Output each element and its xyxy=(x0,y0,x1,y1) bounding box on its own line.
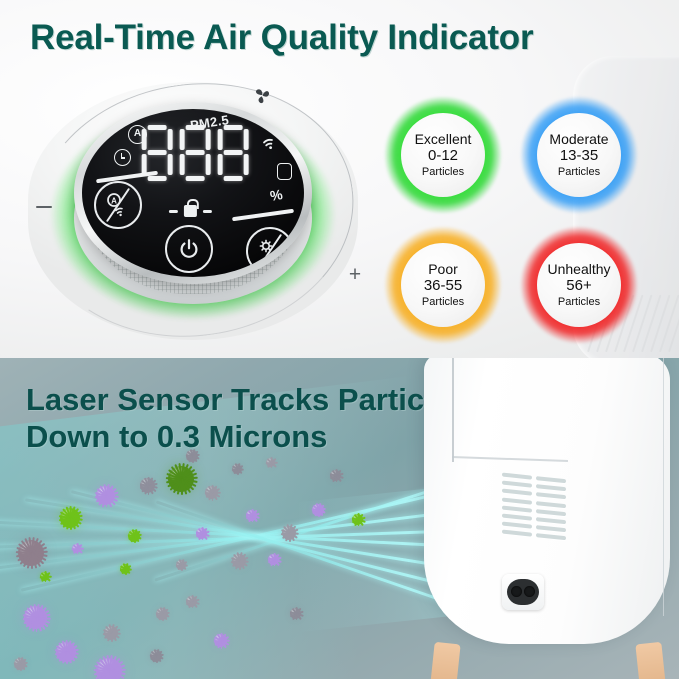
microbe-particle xyxy=(266,458,275,467)
vent-slat xyxy=(536,525,566,532)
air-quality-legend: Excellent 0-12 Particles Moderate 13-35 … xyxy=(384,96,660,346)
air-purifier-control-unit: + PM2.5 % A xyxy=(18,78,368,350)
segment xyxy=(148,125,167,130)
microbe-particle xyxy=(268,554,279,565)
badge-label: Poor xyxy=(428,262,458,278)
segment xyxy=(218,154,223,175)
socket-inlet xyxy=(507,579,539,605)
segment xyxy=(244,154,249,175)
segment xyxy=(218,129,223,150)
segment xyxy=(148,150,167,155)
vent-slat xyxy=(502,497,532,504)
badge-range: 56+ xyxy=(566,278,591,295)
microbe-particle xyxy=(104,626,118,640)
badge-range: 0-12 xyxy=(428,148,458,165)
vent-slat xyxy=(502,473,532,480)
microbe-particle xyxy=(156,608,168,620)
microbe-particle xyxy=(186,596,197,607)
microbe-spikes xyxy=(227,459,247,479)
microbe-particle xyxy=(352,514,363,525)
badge-label: Excellent xyxy=(415,132,472,148)
seven-segment-digit xyxy=(218,125,249,181)
badge-label: Unhealthy xyxy=(547,262,610,278)
microbe-spikes xyxy=(347,509,368,530)
badge-disc-poor: Poor 36-55 Particles xyxy=(401,243,485,327)
microbe-particle xyxy=(128,530,140,542)
laser-beam xyxy=(156,500,440,600)
seven-segment-digit xyxy=(180,125,211,181)
segment xyxy=(142,154,147,175)
body-seam-horizontal xyxy=(452,456,568,462)
microbe-particle xyxy=(72,544,81,553)
vent-slat xyxy=(536,517,566,524)
display-bar-right xyxy=(232,209,294,222)
microbe-particle xyxy=(330,470,341,481)
bottom-panel: Laser Sensor Tracks Particles Down to 0.… xyxy=(0,358,679,679)
infographic-page: Real-Time Air Quality Indicator + xyxy=(0,0,679,679)
vent-slat xyxy=(536,533,566,540)
microbe-particle xyxy=(18,540,44,566)
wifi-icon xyxy=(262,137,280,151)
microbe-particle xyxy=(176,560,186,570)
microbe-spikes xyxy=(181,591,202,612)
microbe-particle xyxy=(290,608,301,619)
segment xyxy=(148,176,167,181)
microbe-spikes xyxy=(51,637,81,667)
microbe-spikes xyxy=(9,653,31,675)
segment xyxy=(206,129,211,150)
child-lock-row xyxy=(169,205,212,217)
microbe-particle xyxy=(246,510,257,521)
microbe-particle xyxy=(196,528,207,539)
percent-label: % xyxy=(268,186,283,204)
page-title: Real-Time Air Quality Indicator xyxy=(30,18,670,58)
microbe-particle xyxy=(168,466,194,492)
vent-slat xyxy=(536,476,566,483)
auto-mode-icon: A xyxy=(128,125,147,144)
microbe-spikes xyxy=(325,465,346,486)
vent-slat xyxy=(502,514,532,521)
pm25-digits xyxy=(142,125,249,181)
auto-wifi-button[interactable]: A xyxy=(94,181,142,229)
microbe-particle xyxy=(24,606,47,629)
timer-icon xyxy=(114,149,131,166)
microbe-spikes xyxy=(263,549,284,570)
segment xyxy=(206,154,211,175)
power-icon xyxy=(176,236,202,262)
badge-unit: Particles xyxy=(558,296,600,308)
badge-moderate[interactable]: Moderate 13-35 Particles xyxy=(520,96,638,214)
vent-slat xyxy=(536,492,566,499)
microbe-spikes xyxy=(123,525,145,547)
badge-range: 36-55 xyxy=(424,278,462,295)
microbe-spikes xyxy=(261,453,280,472)
microbe-spikes xyxy=(307,499,329,521)
product-leg-left xyxy=(429,642,460,679)
badge-range: 13-35 xyxy=(560,148,598,165)
product-leg-right xyxy=(635,642,666,679)
microbe-particle xyxy=(312,504,324,516)
microbe-spikes xyxy=(171,555,191,575)
microbe-particle xyxy=(150,650,162,662)
badge-unit: Particles xyxy=(558,166,600,178)
badge-disc-excellent: Excellent 0-12 Particles xyxy=(401,113,485,197)
lock-dash-right xyxy=(203,210,212,213)
microbe-spikes xyxy=(285,603,306,624)
air-purifier-body xyxy=(424,358,670,644)
segment xyxy=(186,150,205,155)
microbe-spikes xyxy=(67,539,86,558)
microbe-spikes xyxy=(191,523,212,544)
badge-disc-unhealthy: Unhealthy 56+ Particles xyxy=(537,243,621,327)
badge-disc-moderate: Moderate 13-35 Particles xyxy=(537,113,621,197)
microbe-spikes xyxy=(35,567,54,586)
microbe-particle xyxy=(282,526,296,540)
vent-slat xyxy=(502,481,532,488)
microbe-particle xyxy=(140,478,155,493)
segment xyxy=(244,129,249,150)
segment xyxy=(186,125,205,130)
led-display-screen: PM2.5 % A xyxy=(82,109,304,277)
microbe-spikes xyxy=(209,629,232,652)
microbe-particle xyxy=(56,642,76,662)
vent-slat xyxy=(502,530,532,537)
segment xyxy=(142,129,147,150)
fan-icon xyxy=(250,84,274,108)
microbe-particle xyxy=(232,464,242,474)
light-filter-button[interactable] xyxy=(246,227,294,275)
badge-excellent[interactable]: Excellent 0-12 Particles xyxy=(384,96,502,214)
microbe-spikes xyxy=(200,481,223,504)
microbe-spikes xyxy=(115,559,135,579)
vent-slat xyxy=(536,484,566,491)
microbe-spikes xyxy=(91,481,120,510)
badge-unhealthy[interactable]: Unhealthy 56+ Particles xyxy=(520,226,638,344)
segment xyxy=(168,154,173,175)
microbe-particle xyxy=(205,486,218,499)
power-socket-icon xyxy=(502,574,544,610)
seven-segment-digit xyxy=(142,125,173,181)
badge-unit: Particles xyxy=(422,296,464,308)
segment xyxy=(224,150,243,155)
top-panel: Real-Time Air Quality Indicator + xyxy=(0,0,679,358)
microbe-particle xyxy=(40,572,49,581)
microbe-particle xyxy=(96,658,122,679)
display-bezel: PM2.5 % A xyxy=(74,102,312,284)
body-edge-line xyxy=(663,358,665,616)
power-button[interactable] xyxy=(165,225,213,273)
child-lock-icon xyxy=(184,205,197,217)
air-vent-grille xyxy=(502,473,568,546)
microbe-spikes xyxy=(19,601,52,634)
segment xyxy=(180,129,185,150)
microbe-spikes xyxy=(227,549,251,573)
microbe-particle xyxy=(232,554,246,568)
vent-slat xyxy=(502,505,532,512)
filter-icon xyxy=(277,163,292,180)
badge-poor[interactable]: Poor 36-55 Particles xyxy=(384,226,502,344)
vent-slat xyxy=(502,522,532,529)
microbe-spikes xyxy=(145,645,167,667)
microbe-spikes xyxy=(99,621,123,645)
pm25-label: PM2.5 xyxy=(189,112,230,133)
microbe-spikes xyxy=(151,603,173,625)
segment xyxy=(168,129,173,150)
microbe-spikes xyxy=(55,503,85,533)
microbe-spikes xyxy=(241,505,262,526)
microbe-particle xyxy=(120,564,130,574)
segment xyxy=(186,176,205,181)
segment xyxy=(224,176,243,181)
microbe-particle xyxy=(60,508,80,528)
segment xyxy=(180,154,185,175)
vent-slat xyxy=(536,501,566,508)
microbe-spikes xyxy=(135,473,160,498)
microbe-spikes xyxy=(13,535,49,571)
segment xyxy=(224,125,243,130)
microbe-particle xyxy=(96,486,115,505)
vent-slat xyxy=(502,489,532,496)
vent-slat xyxy=(536,509,566,516)
badge-unit: Particles xyxy=(422,166,464,178)
badge-label: Moderate xyxy=(549,132,608,148)
microbe-particle xyxy=(214,634,227,647)
dial-plus-icon: + xyxy=(346,266,364,284)
body-seam-vertical xyxy=(452,358,454,462)
lock-dash-left xyxy=(169,210,178,213)
microbe-spikes xyxy=(277,521,301,545)
microbe-particle xyxy=(14,658,26,670)
